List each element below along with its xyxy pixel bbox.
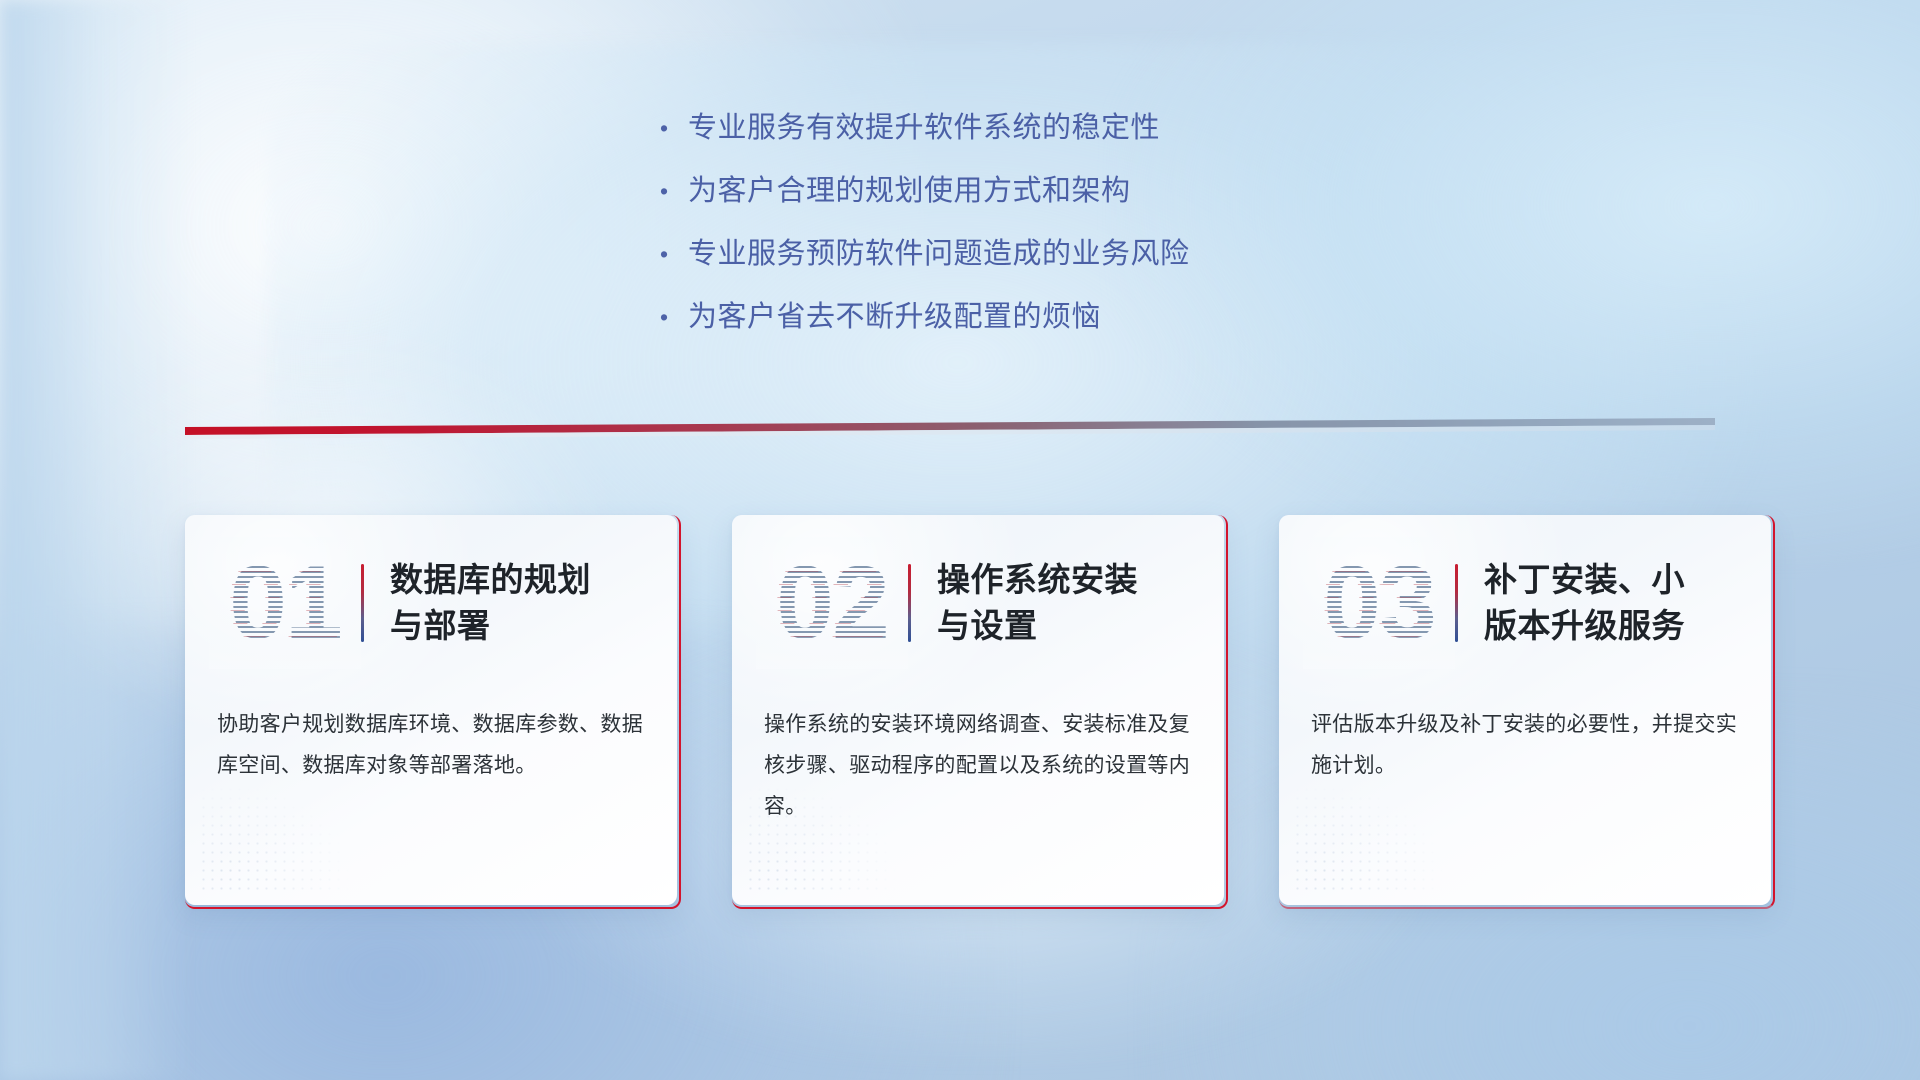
list-item: • 为客户合理的规划使用方式和架构	[660, 173, 1520, 209]
card-dot-texture	[1293, 785, 1443, 895]
bullet-text: 专业服务有效提升软件系统的稳定性	[688, 110, 1160, 146]
title-accent-bar	[1455, 564, 1458, 642]
bullet-text: 为客户合理的规划使用方式和架构	[688, 173, 1131, 209]
bullet-dot-icon: •	[660, 110, 688, 146]
background-edge-left	[0, 0, 192, 1080]
card-surface: 02 02 操作系统安装 与设置 操作系统的安装环境网络调查、安装标准及复核步骤…	[732, 515, 1224, 905]
benefits-bullet-list: • 专业服务有效提升软件系统的稳定性 • 为客户合理的规划使用方式和架构 • 专…	[660, 110, 1520, 362]
service-card-row: 01 01 数据库的规划 与部署 协助客户规划数据库环境、数据库参数、数据库空间…	[185, 515, 1775, 930]
card-title-line2: 与部署	[390, 603, 651, 649]
service-card-03[interactable]: 03 03 补丁安装、小 版本升级服务 评估版本升级及补丁安装的必要性，并提交实…	[1279, 515, 1771, 905]
bullet-text: 专业服务预防软件问题造成的业务风险	[688, 236, 1190, 272]
card-surface: 01 01 数据库的规划 与部署 协助客户规划数据库环境、数据库参数、数据库空间…	[185, 515, 677, 905]
list-item: • 专业服务有效提升软件系统的稳定性	[660, 110, 1520, 146]
card-title-line1: 操作系统安装	[937, 557, 1198, 603]
title-accent-bar	[908, 564, 911, 642]
card-body-text: 评估版本升级及补丁安装的必要性，并提交实施计划。	[1279, 704, 1771, 786]
list-item: • 为客户省去不断升级配置的烦恼	[660, 299, 1520, 335]
title-accent-bar	[361, 564, 364, 642]
card-header: 03 03 补丁安装、小 版本升级服务	[1279, 515, 1771, 690]
card-header: 02 02 操作系统安装 与设置	[732, 515, 1224, 690]
card-title: 操作系统安装 与设置	[937, 557, 1198, 649]
ghost-number-icon: 01 01	[215, 543, 355, 663]
bullet-text: 为客户省去不断升级配置的烦恼	[688, 299, 1101, 335]
bullet-dot-icon: •	[660, 299, 688, 335]
service-card-01[interactable]: 01 01 数据库的规划 与部署 协助客户规划数据库环境、数据库参数、数据库空间…	[185, 515, 677, 905]
card-dot-texture	[199, 785, 349, 895]
section-divider	[185, 418, 1715, 452]
card-title-line1: 补丁安装、小	[1484, 557, 1745, 603]
ghost-number-red-stripes: 03	[1306, 543, 1446, 663]
ghost-number-red-stripes: 01	[212, 543, 352, 663]
card-title-line1: 数据库的规划	[390, 557, 651, 603]
card-body-text: 操作系统的安装环境网络调查、安装标准及复核步骤、驱动程序的配置以及系统的设置等内…	[732, 704, 1224, 827]
card-surface: 03 03 补丁安装、小 版本升级服务 评估版本升级及补丁安装的必要性，并提交实…	[1279, 515, 1771, 905]
bullet-dot-icon: •	[660, 236, 688, 272]
card-title-line2: 版本升级服务	[1484, 603, 1745, 649]
service-card-02[interactable]: 02 02 操作系统安装 与设置 操作系统的安装环境网络调查、安装标准及复核步骤…	[732, 515, 1224, 905]
ghost-number-icon: 03 03	[1309, 543, 1449, 663]
card-title-line2: 与设置	[937, 603, 1198, 649]
ghost-number-red-stripes: 02	[759, 543, 899, 663]
list-item: • 专业服务预防软件问题造成的业务风险	[660, 236, 1520, 272]
card-title: 数据库的规划 与部署	[390, 557, 651, 649]
card-header: 01 01 数据库的规划 与部署	[185, 515, 677, 690]
ghost-number-icon: 02 02	[762, 543, 902, 663]
card-body-text: 协助客户规划数据库环境、数据库参数、数据库空间、数据库对象等部署落地。	[185, 704, 677, 786]
card-title: 补丁安装、小 版本升级服务	[1484, 557, 1745, 649]
bullet-dot-icon: •	[660, 173, 688, 209]
